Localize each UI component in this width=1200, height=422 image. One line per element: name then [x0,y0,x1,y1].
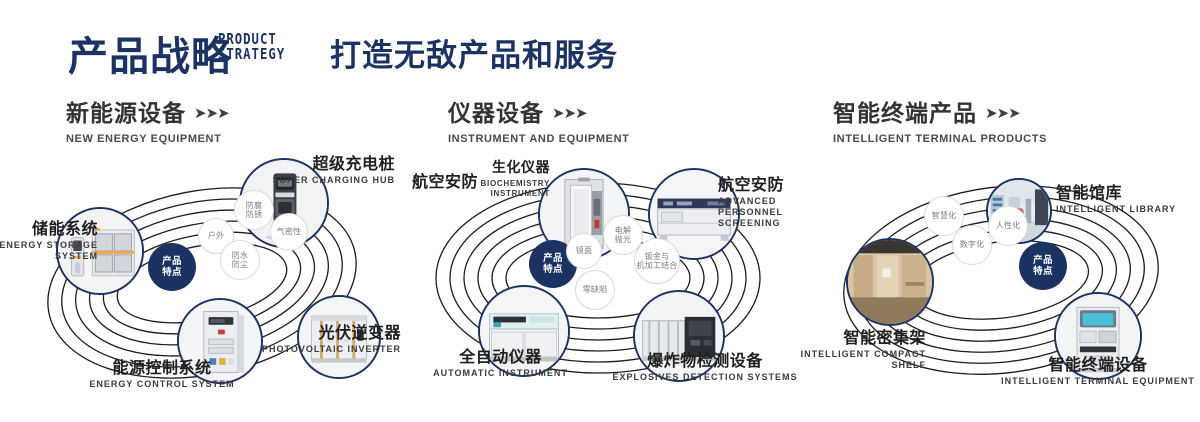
label-intelligent-terminal-equipment-cn: 智能终端设备 [1000,355,1196,374]
label-explosives-detection-systems-cn: 爆炸物检测设备 [610,351,800,370]
feature-tag-anticorrosion-line1: 防腐 [246,201,262,211]
label-explosives-detection-systems: 爆炸物检测设备 EXPLOSIVES DETECTION SYSTEMS [610,351,800,383]
headline: 打造无敌产品和服务 [330,30,618,75]
feature-tag-airtightness: 气密性 [270,213,308,251]
section-heading-intelligent-terminal: 智能终端产品➤➤➤ INTELLIGENT TERMINAL PRODUCTS [833,94,1047,145]
feature-tag-waterproof-line2: 防尘 [232,260,248,270]
feature-tag-anticorrosion: 防腐 防锈 [234,190,274,230]
page-header: 产品战略 PRODUCT STRATEGY 打造无敌产品和服务 [0,0,1200,88]
feature-tag-core-line2: 特点 [543,264,563,275]
label-intelligent-terminal-equipment: 智能终端设备 INTELLIGENT TERMINAL EQUIPMENT [1000,355,1196,387]
section-3-title: 智能终端产品 [833,101,977,127]
feature-tag-waterproof: 防水 防尘 [220,240,260,280]
feature-tag-digitalization-line1: 数字化 [960,240,985,250]
feature-tag-electropolishing-line2: 抛光 [615,235,631,245]
section-heading-new-energy: 新能源设备➤➤➤ NEW ENERGY EQUIPMENT [66,94,229,145]
intelligent-compact-shelf-photo [848,240,932,324]
label-biochemistry-instrument: 生化仪器 BIOCHEMISTRY INSTRUMENT [455,160,550,198]
label-biochemistry-instrument-en: BIOCHEMISTRY INSTRUMENT [455,179,550,198]
label-intelligent-library-cn: 智能馆库 [1056,183,1196,202]
label-automatic-instrument: 全自动仪器 AUTOMATIC INSTRUMENT [408,347,593,379]
feature-tag-zero-defect-line1: 零缺陷 [583,285,608,295]
chevron-right-icon: ➤➤➤ [194,104,229,122]
label-super-charging-hub-en: SUPER CHARGING HUB [260,175,395,186]
chevron-right-icon: ➤➤➤ [552,104,587,122]
feature-tag-humanization-line1: 人性化 [996,221,1021,231]
feature-tag-waterproof-line1: 防水 [232,251,248,261]
label-intelligent-compact-shelf-en: INTELLIGENT COMPACT SHELF [790,349,926,371]
feature-tag-airtightness-line1: 气密性 [277,227,302,237]
feature-tag-mirror-finish: 镜面 [566,233,602,269]
label-energy-control-system-cn: 能源控制系统 [62,358,262,377]
label-energy-storage-system-cn: 储能系统 [0,219,98,238]
label-automatic-instrument-en: AUTOMATIC INSTRUMENT [408,368,593,379]
feature-tag-humanization: 人性化 [988,206,1028,246]
page-title: 产品战略 [68,24,232,82]
section-1-subtitle: NEW ENERGY EQUIPMENT [66,133,229,145]
chevron-right-icon: ➤➤➤ [985,104,1020,122]
feature-tag-core-line2: 特点 [1033,266,1053,277]
feature-tag-outdoor-line1: 户外 [208,231,224,241]
node-intelligent-compact-shelf[interactable] [846,238,934,326]
label-energy-storage-system-en: ENERGY STORAGE SYSTEM [0,240,98,262]
feature-tag-core-line1: 产品 [543,253,563,264]
section-heading-instrument: 仪器设备➤➤➤ INSTRUMENT AND EQUIPMENT [448,94,629,145]
label-energy-control-system-en: ENERGY CONTROL SYSTEM [62,379,262,390]
page-title-english-line2: STRATEGY [218,47,285,62]
feature-tag-sheetmetal-machining-line2: 机加工结合 [637,261,678,271]
label-energy-control-system: 能源控制系统 ENERGY CONTROL SYSTEM [62,358,262,390]
feature-tag-sheetmetal-machining-line1: 钣金与 [637,252,678,262]
label-photovoltaic-inverter-en: PHOTOVOLTAIC INVERTER [255,344,401,355]
feature-tag-core: 产品 特点 [148,243,196,291]
label-intelligent-library: 智能馆库 INTELLIGENT LIBRARY [1056,183,1196,215]
page-title-english: PRODUCT STRATEGY [218,32,285,62]
label-photovoltaic-inverter-cn: 光伏逆变器 [255,323,401,342]
label-intelligent-compact-shelf: 智能密集架 INTELLIGENT COMPACT SHELF [790,328,926,371]
label-explosives-detection-systems-en: EXPLOSIVES DETECTION SYSTEMS [610,372,800,383]
feature-tag-electropolishing-line1: 电解 [615,226,631,236]
feature-tag-core: 产品 特点 [1019,242,1067,290]
label-intelligent-compact-shelf-cn: 智能密集架 [790,328,926,347]
feature-tag-intelligence-line1: 智慧化 [932,211,957,221]
label-super-charging-hub-cn: 超级充电桩 [260,154,395,173]
label-biochemistry-instrument-cn: 生化仪器 [455,160,550,177]
label-super-charging-hub: 超级充电桩 SUPER CHARGING HUB [260,154,395,186]
feature-tag-anticorrosion-line2: 防锈 [246,210,262,220]
feature-tag-digitalization: 数字化 [952,225,992,265]
feature-tag-mirror-finish-line1: 镜面 [576,246,592,256]
label-photovoltaic-inverter: 光伏逆变器 PHOTOVOLTAIC INVERTER [255,323,401,355]
section-2-subtitle: INSTRUMENT AND EQUIPMENT [448,133,629,145]
feature-tag-zero-defect: 零缺陷 [575,270,615,310]
feature-tag-core-line1: 产品 [162,256,182,267]
label-energy-storage-system: 储能系统 ENERGY STORAGE SYSTEM [0,219,98,262]
section-1-title: 新能源设备 [66,101,186,127]
label-intelligent-library-en: INTELLIGENT LIBRARY [1056,204,1196,215]
feature-tag-core-line1: 产品 [1033,255,1053,266]
section-3-subtitle: INTELLIGENT TERMINAL PRODUCTS [833,133,1047,145]
feature-tag-core-line2: 特点 [162,267,182,278]
label-intelligent-terminal-equipment-en: INTELLIGENT TERMINAL EQUIPMENT [1000,376,1196,387]
section-2-title: 仪器设备 [448,101,544,127]
label-automatic-instrument-cn: 全自动仪器 [408,347,593,366]
feature-tag-sheetmetal-machining: 钣金与 机加工结合 [634,238,680,284]
product-strategy-infographic: 产品战略 PRODUCT STRATEGY 打造无敌产品和服务 新能源设备➤➤➤… [0,0,1200,422]
